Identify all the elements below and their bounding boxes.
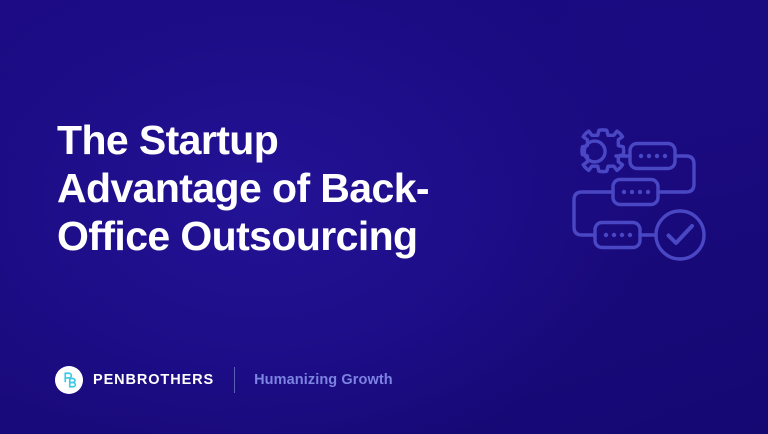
- check-circle-icon: [656, 211, 704, 259]
- process-node-pill-middle: [613, 180, 658, 205]
- workflow-automation-icon: [558, 122, 710, 272]
- process-node-pill-top: [630, 144, 675, 169]
- blog-banner: The Startup Advantage of Back- Office Ou…: [0, 0, 768, 434]
- gear-icon: [582, 130, 624, 172]
- brand-name: PENBROTHERS: [93, 373, 214, 388]
- brand-divider: [234, 367, 235, 393]
- brand-tagline: Humanizing Growth: [254, 373, 393, 388]
- page-title: The Startup Advantage of Back- Office Ou…: [57, 116, 527, 260]
- brand-lockup: PENBROTHERS Humanizing Growth: [55, 363, 393, 397]
- process-node-pill-bottom: [595, 223, 640, 248]
- penbrothers-monogram-icon: [55, 366, 83, 394]
